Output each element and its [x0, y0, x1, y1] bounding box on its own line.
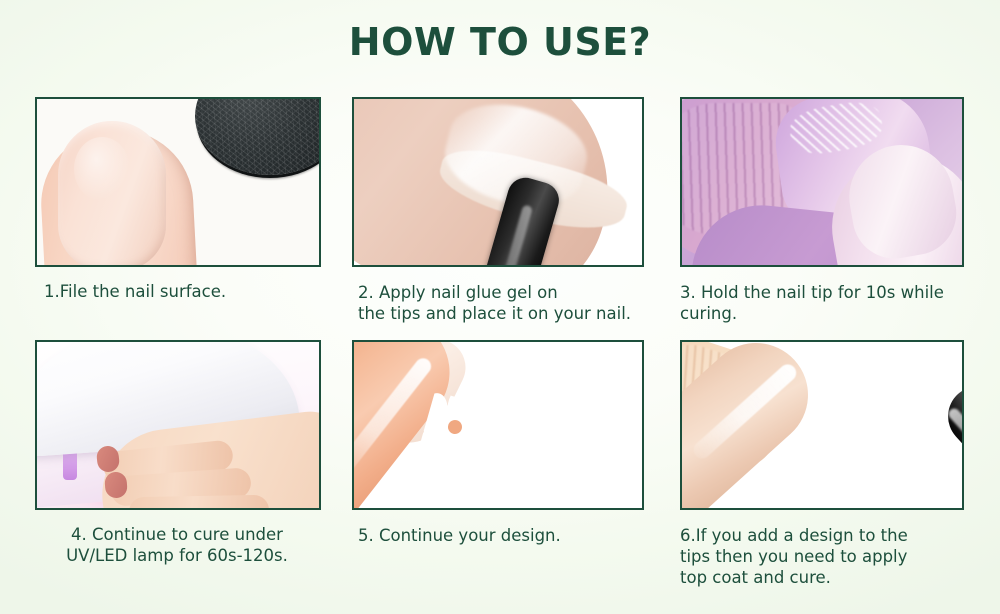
step-2-photo-frame [352, 97, 644, 267]
uv-led-lamp-curing-photo [37, 342, 319, 508]
step-6-caption: 6.If you add a design to the tips then y… [680, 525, 964, 588]
nail-highlight [74, 137, 130, 201]
step-4-photo-frame [35, 340, 321, 510]
step-6: 6.If you add a design to the tips then y… [680, 340, 964, 588]
step-1-photo-frame [35, 97, 321, 267]
step-1: 1.File the nail surface. [35, 97, 321, 302]
nail-art-design-photo [354, 342, 642, 508]
step-3-photo-frame [680, 97, 964, 267]
step-4-caption: 4. Continue to cure under UV/LED lamp fo… [41, 524, 313, 566]
nail-glue-gel-brush-photo [354, 99, 642, 265]
step-3: 3. Hold the nail tip for 10s while curin… [680, 97, 964, 324]
step-3-caption: 3. Hold the nail tip for 10s while curin… [680, 282, 964, 324]
holding-nail-tip-photo [682, 99, 962, 265]
how-to-use-infographic: HOW TO USE? 1.File the nail surface. [0, 0, 1000, 614]
accent-dot-3 [550, 492, 555, 497]
finger-3 [129, 495, 270, 508]
step-2-caption: 2. Apply nail glue gel on the tips and p… [358, 282, 644, 324]
led-strip [63, 450, 77, 480]
finger-nail-and-buffer-photo [37, 99, 319, 265]
accent-dot-2 [572, 492, 577, 497]
step-1-caption: 1.File the nail surface. [44, 281, 321, 302]
step-2: 2. Apply nail glue gel on the tips and p… [352, 97, 644, 324]
natural-nail-shape [58, 121, 166, 265]
page-title: HOW TO USE? [0, 19, 1000, 65]
step-5: 5. Continue your design. [352, 340, 644, 546]
step-4: 4. Continue to cure under UV/LED lamp fo… [35, 340, 321, 566]
step-6-photo-frame [680, 340, 964, 510]
top-coat-application-photo [682, 342, 962, 508]
step-5-caption: 5. Continue your design. [358, 525, 644, 546]
step-5-photo-frame [352, 340, 644, 510]
